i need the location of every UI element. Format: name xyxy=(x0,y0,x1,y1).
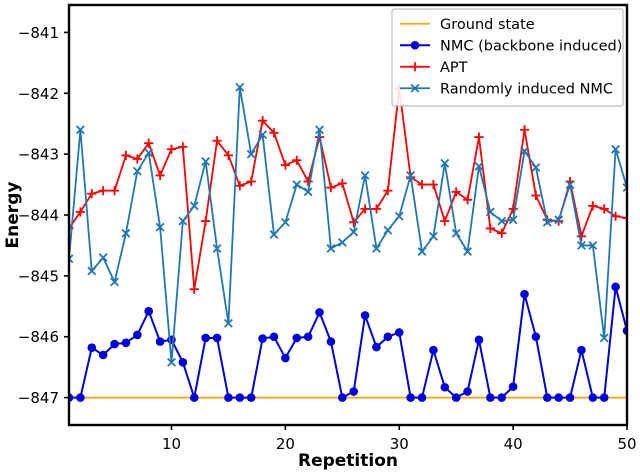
series-marker-1 xyxy=(270,332,279,341)
y-axis-title: Energy xyxy=(3,182,23,249)
series-marker-1 xyxy=(486,393,495,402)
series-marker-1 xyxy=(213,334,222,343)
series-marker-1 xyxy=(327,337,336,346)
series-marker-1 xyxy=(589,393,598,402)
series-marker-1 xyxy=(179,358,188,367)
series-marker-1 xyxy=(338,393,347,402)
series-marker-1 xyxy=(201,334,210,343)
series-marker-1 xyxy=(554,393,563,402)
series-marker-1 xyxy=(258,334,267,343)
series-line-1 xyxy=(69,287,627,398)
legend-label: Randomly induced NMC xyxy=(440,81,613,97)
series-marker-1 xyxy=(429,346,438,355)
y-tick-label: −841 xyxy=(18,24,59,42)
series-marker-1 xyxy=(497,393,506,402)
series-marker-1 xyxy=(236,393,245,402)
series-marker-1 xyxy=(611,283,620,292)
chart-canvas: −841−842−843−844−845−846−8471020304050Re… xyxy=(0,0,640,476)
legend: Ground stateNMC (backbone induced)APTRan… xyxy=(392,9,623,106)
y-tick-label: −844 xyxy=(18,207,59,225)
x-tick-label: 50 xyxy=(617,435,636,453)
series-marker-1 xyxy=(361,311,370,320)
y-tick-label: −842 xyxy=(18,85,59,103)
series-marker-1 xyxy=(87,343,96,352)
series-marker-1 xyxy=(566,393,575,402)
series-marker-1 xyxy=(76,393,85,402)
series-marker-1 xyxy=(577,346,586,355)
series-marker-1 xyxy=(418,393,427,402)
series-marker-1 xyxy=(304,332,313,341)
series-marker-1 xyxy=(463,387,472,396)
legend-label: APT xyxy=(440,60,468,76)
series-marker-1 xyxy=(190,393,199,402)
series-marker-1 xyxy=(122,339,131,348)
y-tick-label: −846 xyxy=(18,328,59,346)
legend-label: Ground state xyxy=(440,17,535,33)
y-tick-label: −847 xyxy=(18,389,59,407)
series-marker-1 xyxy=(395,328,404,337)
series-marker-1 xyxy=(520,290,529,299)
series-marker-1 xyxy=(224,393,233,402)
series-marker-1 xyxy=(372,343,381,352)
series-marker-1 xyxy=(406,393,415,402)
series-marker-1 xyxy=(509,382,518,391)
x-axis-title: Repetition xyxy=(298,451,398,471)
figure: −841−842−843−844−845−846−8471020304050Re… xyxy=(0,0,640,476)
series-marker-1 xyxy=(133,331,142,340)
series-line-2 xyxy=(69,88,627,289)
series-marker-1 xyxy=(441,383,450,392)
series-marker-1 xyxy=(384,332,393,341)
series-marker-1 xyxy=(156,337,165,346)
x-tick-label: 10 xyxy=(162,435,181,453)
series-marker-1 xyxy=(110,340,119,349)
series-group xyxy=(64,83,631,402)
y-tick-label: −845 xyxy=(18,267,59,285)
series-marker-1 xyxy=(247,393,256,402)
x-tick-label: 40 xyxy=(504,435,523,453)
legend-label: NMC (backbone induced) xyxy=(440,38,622,54)
series-marker-1 xyxy=(349,387,358,396)
x-tick-label: 20 xyxy=(276,435,295,453)
series-marker-1 xyxy=(99,351,108,360)
y-tick-label: −843 xyxy=(18,146,59,164)
series-marker-1 xyxy=(292,334,301,343)
series-marker-1 xyxy=(144,307,153,316)
series-marker-1 xyxy=(600,393,609,402)
legend-marker-circle-icon xyxy=(411,41,420,50)
series-marker-1 xyxy=(543,393,552,402)
series-marker-1 xyxy=(475,335,484,344)
series-marker-1 xyxy=(452,393,461,402)
series-marker-1 xyxy=(315,308,324,317)
series-marker-1 xyxy=(532,332,541,341)
series-marker-1 xyxy=(281,354,290,363)
